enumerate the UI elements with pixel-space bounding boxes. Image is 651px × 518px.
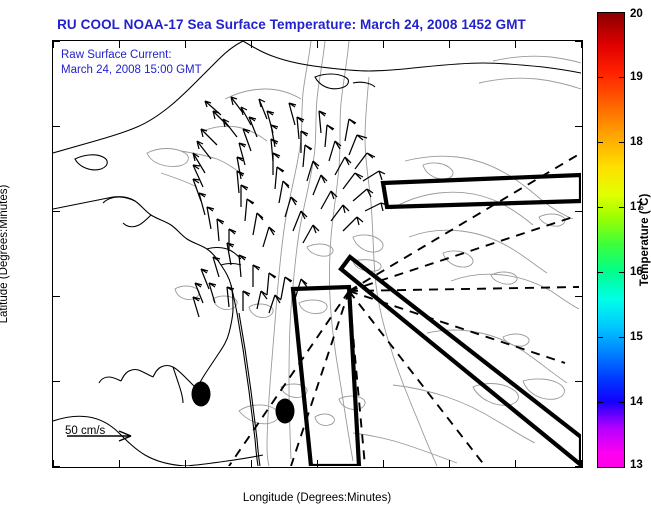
x-tickmark — [251, 460, 252, 467]
x-tickmark — [515, 460, 516, 467]
colorbar-tick-label: 15 — [630, 331, 643, 343]
x-tickmark-top — [581, 41, 582, 48]
colorbar-tickmark-right — [619, 337, 625, 338]
colorbar-title: Temperature (°C) — [639, 194, 651, 287]
page-title: RU COOL NOAA-17 Sea Surface Temperature:… — [0, 17, 583, 32]
annotation-line-1: Raw Surface Current: — [61, 48, 202, 63]
x-tickmark — [185, 460, 186, 467]
x-tickmark-top — [185, 41, 186, 48]
station-marker-1 — [192, 382, 211, 407]
colorbar-tick-label: 13 — [630, 459, 643, 471]
corridor-upper — [383, 175, 581, 207]
colorbar-tick-label: 20 — [630, 8, 643, 20]
colorbar-tickmark-right — [619, 77, 625, 78]
x-tickmark — [53, 460, 54, 467]
colorbar-tickmark-right — [619, 142, 625, 143]
colorbar-tickmark — [597, 12, 603, 13]
colorbar-tick-label: 14 — [630, 396, 643, 408]
colorbar-tickmark — [597, 142, 603, 143]
x-tickmark-top — [251, 41, 252, 48]
survey-corridors — [293, 175, 581, 466]
y-tickmark — [53, 41, 60, 42]
colorbar-tickmark-right — [619, 402, 625, 403]
annotation-line-2: March 24, 2008 15:00 GMT — [61, 63, 202, 78]
colorbar-tickmark-right — [619, 207, 625, 208]
x-tickmark-top — [515, 41, 516, 48]
y-axis-label: Latitude (Degrees:Minutes) — [0, 185, 10, 324]
y-tickmark — [53, 126, 60, 127]
y-tickmark — [53, 296, 60, 297]
colorbar[interactable]: 20 19 18 17 16 15 14 13 — [597, 12, 625, 468]
y-tickmark — [53, 466, 60, 467]
colorbar-tickmark — [597, 207, 603, 208]
y-tickmark-right — [575, 381, 582, 382]
colorbar-tickmark — [597, 77, 603, 78]
annotation-block: Raw Surface Current: March 24, 2008 15:0… — [61, 48, 202, 77]
x-axis-label: Longitude (Degrees:Minutes) — [243, 492, 391, 504]
x-tickmark — [383, 460, 384, 467]
station-markers — [192, 382, 295, 424]
x-tickmark-top — [119, 41, 120, 48]
figure-root: RU COOL NOAA-17 Sea Surface Temperature:… — [0, 0, 651, 518]
y-tickmark-right — [575, 211, 582, 212]
colorbar-tickmark — [597, 272, 603, 273]
scale-bar-arrow-icon — [65, 425, 145, 445]
y-tickmark-right — [575, 296, 582, 297]
colorbar-tickmark-right — [619, 272, 625, 273]
x-tickmark — [581, 460, 582, 467]
y-tickmark — [53, 211, 60, 212]
x-tickmark-top — [317, 41, 318, 48]
colorbar-gradient — [597, 12, 625, 468]
x-tickmark-top — [383, 41, 384, 48]
colorbar-tick-label: 18 — [630, 136, 643, 148]
scale-bar: 50 cm/s — [65, 425, 105, 437]
x-tickmark — [317, 460, 318, 467]
station-marker-2 — [276, 399, 295, 424]
colorbar-tick-label: 19 — [630, 71, 643, 83]
x-tickmark — [119, 460, 120, 467]
colorbar-tickmark — [597, 337, 603, 338]
x-tickmark-top — [53, 41, 54, 48]
x-tickmark — [449, 460, 450, 467]
y-tickmark-right — [575, 126, 582, 127]
map-plot-area[interactable]: Raw Surface Current: March 24, 2008 15:0… — [52, 40, 583, 468]
map-canvas — [53, 41, 581, 466]
colorbar-tickmark — [597, 467, 603, 468]
colorbar-tickmark-right — [619, 12, 625, 13]
x-tickmark-top — [449, 41, 450, 48]
y-tickmark — [53, 381, 60, 382]
colorbar-tickmark — [597, 402, 603, 403]
colorbar-tickmark-right — [619, 467, 625, 468]
